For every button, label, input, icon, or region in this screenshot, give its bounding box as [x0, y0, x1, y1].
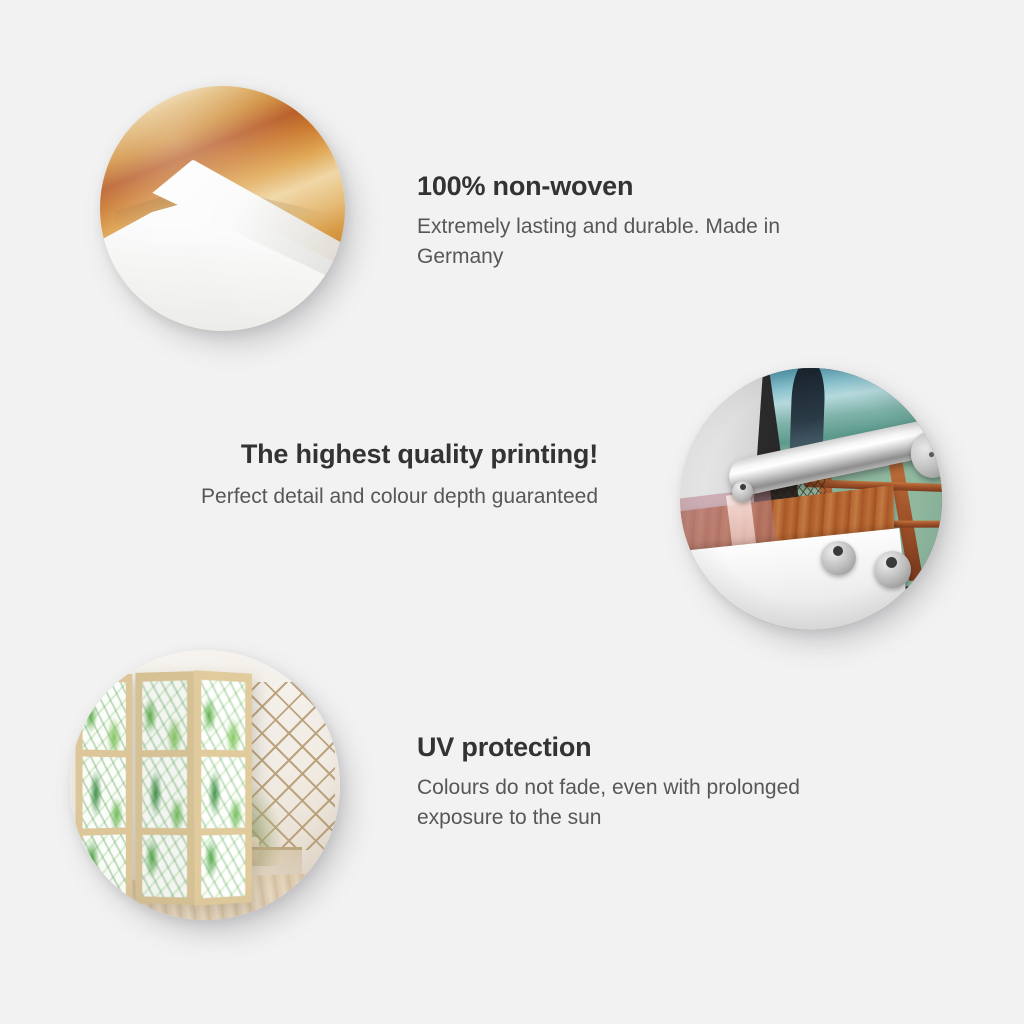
feature-highlights-panel: 100% non-woven Extremely lasting and dur… — [0, 0, 1024, 1024]
image-vignette — [70, 650, 340, 920]
feature-title-non-woven: 100% non-woven — [417, 172, 857, 202]
peeling-wallpaper-illustration — [100, 86, 345, 331]
feature-title-uv-protection: UV protection — [417, 733, 837, 763]
feature-description-uv-protection: Colours do not fade, even with prolonged… — [417, 773, 837, 834]
feature-title-printing: The highest quality printing! — [158, 440, 598, 470]
feature-image-printing — [680, 368, 942, 630]
room-divider-illustration — [70, 650, 340, 920]
feature-image-non-woven — [100, 86, 345, 331]
feature-description-printing: Perfect detail and colour depth guarante… — [158, 482, 598, 512]
feature-text-uv-protection: UV protection Colours do not fade, even … — [417, 733, 837, 834]
feature-image-uv-protection — [70, 650, 340, 920]
image-vignette — [680, 368, 942, 630]
feature-text-printing: The highest quality printing! Perfect de… — [158, 440, 598, 512]
feature-description-non-woven: Extremely lasting and durable. Made in G… — [417, 212, 857, 273]
feature-text-non-woven: 100% non-woven Extremely lasting and dur… — [417, 172, 857, 273]
printing-press-illustration — [680, 368, 942, 630]
